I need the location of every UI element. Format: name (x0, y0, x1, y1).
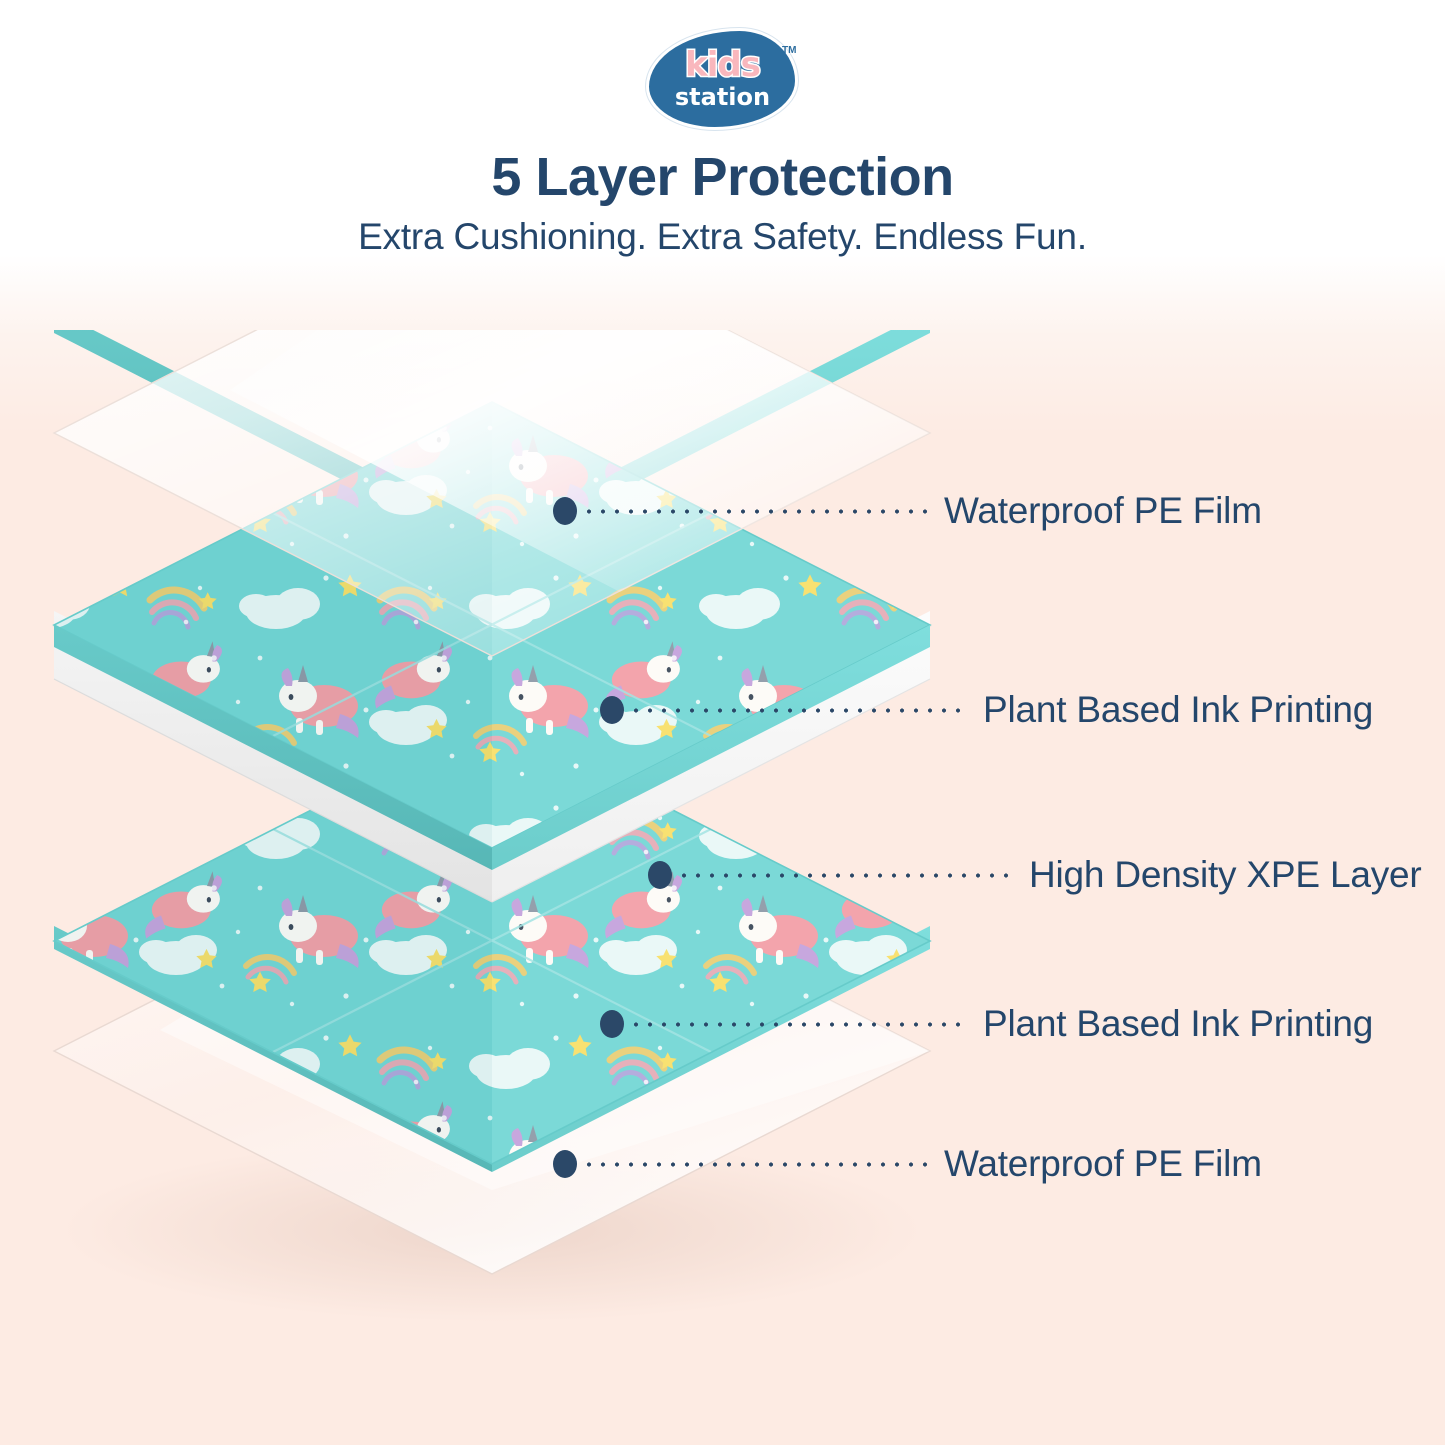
callout-plant-based-ink-printing-bottom: Plant Based Ink Printing (600, 1004, 1373, 1044)
callout-leader-line (629, 1021, 969, 1028)
callout-leader-line (629, 707, 969, 714)
callout-waterproof-pe-film-bottom: Waterproof PE Film (553, 1144, 1262, 1184)
callout-dot-icon (600, 1010, 624, 1038)
callout-leader-line (582, 508, 930, 515)
callout-dot-icon (553, 497, 577, 525)
callout-label: Plant Based Ink Printing (983, 1003, 1373, 1045)
callout-leader-line (677, 872, 1015, 879)
callout-list: Waterproof PE Film Plant Based Ink Print… (0, 0, 1445, 1445)
infographic-page: kids station TM 5 Layer Protection Extra… (0, 0, 1445, 1445)
callout-label: Plant Based Ink Printing (983, 689, 1373, 731)
callout-dot-icon (600, 696, 624, 724)
callout-high-density-xpe-layer: High Density XPE Layer (648, 855, 1422, 895)
callout-label: Waterproof PE Film (944, 1143, 1262, 1185)
callout-plant-based-ink-printing-top: Plant Based Ink Printing (600, 690, 1373, 730)
callout-waterproof-pe-film-top: Waterproof PE Film (553, 491, 1262, 531)
callout-label: High Density XPE Layer (1029, 854, 1422, 896)
callout-label: Waterproof PE Film (944, 490, 1262, 532)
callout-dot-icon (648, 861, 672, 889)
callout-dot-icon (553, 1150, 577, 1178)
callout-leader-line (582, 1161, 930, 1168)
